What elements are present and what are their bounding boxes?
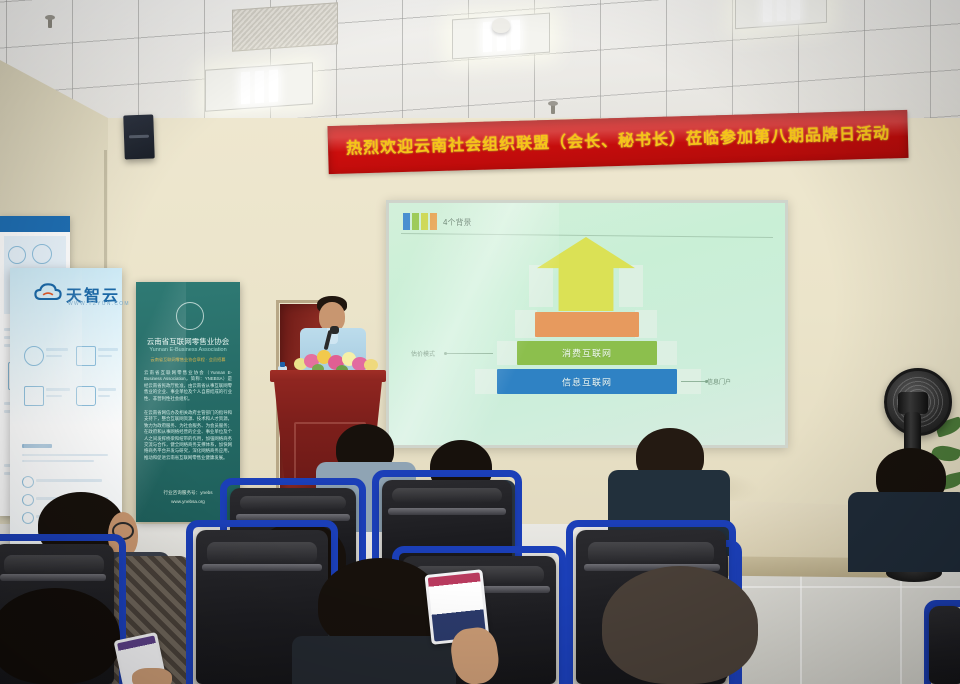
conference-room-photo: 热烈欢迎云南社会组织联盟（会长、秘书长）莅临参加第八期品牌日活动 4个背景 消费…	[0, 0, 960, 684]
projection-screen[interactable]: 4个背景 消费互联网 信息互联网 估价模式 信息门户	[389, 203, 785, 445]
annotation-right: 信息门户	[707, 377, 731, 386]
sprinkler-head-3	[551, 104, 555, 114]
sprinkler-head-1	[48, 18, 52, 28]
lectern-top	[270, 370, 386, 382]
microphone-head	[330, 326, 339, 334]
annotation-right-leader	[681, 381, 705, 382]
audience-body-far-4	[848, 492, 960, 572]
audience-head-front-3	[602, 566, 758, 684]
poster-header-bar	[0, 216, 70, 232]
ceiling-light-1	[205, 62, 313, 112]
screen-glare	[389, 203, 559, 445]
ceiling-dome-light	[492, 18, 510, 33]
hand-holding-phone	[132, 668, 172, 684]
ceiling-vent	[232, 2, 338, 51]
wall-speaker	[123, 114, 155, 159]
pedestal-fan-motor	[898, 392, 928, 414]
chair-a4[interactable]	[924, 600, 960, 684]
apex-ghost-right	[619, 265, 643, 307]
audience-head-front-1	[0, 588, 120, 684]
